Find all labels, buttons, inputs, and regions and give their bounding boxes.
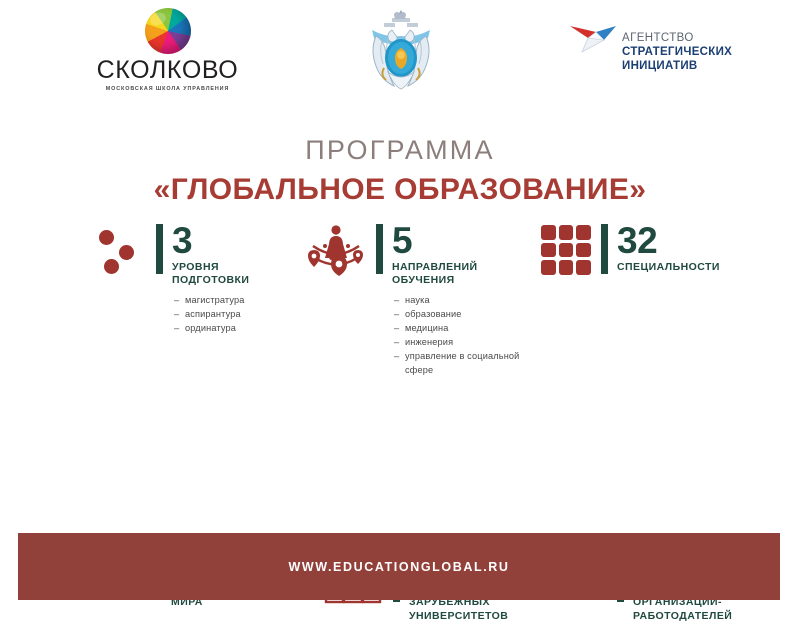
stat-text: 32 СПЕЦИАЛЬНОСТИ <box>617 224 740 274</box>
asi-wordmark: АГЕНТСТВО СТРАТЕГИЧЕСКИХ ИНИЦИАТИВ <box>622 31 732 73</box>
program-label: ПРОГРАММА <box>0 136 800 164</box>
stat-caption-line: УРОВНЯ <box>172 261 300 274</box>
footer-url[interactable]: WWW.EDUCATIONGLOBAL.RU <box>18 560 780 574</box>
title-block: ПРОГРАММА «ГЛОБАЛЬНОЕ ОБРАЗОВАНИЕ» <box>0 136 800 206</box>
people-location-icon-svg <box>305 224 367 276</box>
stat-text: 5 НАПРАВЛЕНИЙ ОБУЧЕНИЯ наука образование… <box>392 224 545 394</box>
stat-caption: НАПРАВЛЕНИЙ ОБУЧЕНИЯ <box>392 261 545 288</box>
asi-line-3: ИНИЦИАТИВ <box>622 59 732 73</box>
list-item: ординатура <box>174 322 300 336</box>
stat-text: 3 УРОВНЯ ПОДГОТОВКИ магистратура аспиран… <box>172 224 300 352</box>
double-headed-eagle-icon <box>362 6 440 92</box>
slide-root: СКОЛКОВО Московская школа управления <box>0 0 800 600</box>
grid-squares-icon <box>540 224 592 276</box>
asi-arrow-icon <box>566 20 618 56</box>
asi-line-2: СТРАТЕГИЧЕСКИХ <box>622 45 732 59</box>
stats-row-1: 3 УРОВНЯ ПОДГОТОВКИ магистратура аспиран… <box>0 222 800 382</box>
three-dots-icon <box>95 224 147 276</box>
list-item: наука <box>394 294 545 308</box>
stat-caption: УРОВНЯ ПОДГОТОВКИ <box>172 261 300 288</box>
skolkovo-tagline: Московская школа управления <box>95 86 240 92</box>
stat-caption: СПЕЦИАЛЬНОСТИ <box>617 261 740 274</box>
page-title: «ГЛОБАЛЬНОЕ ОБРАЗОВАНИЕ» <box>0 174 800 206</box>
list-item: аспирантура <box>174 308 300 322</box>
stat-number: 3 <box>172 224 300 258</box>
list-item: медицина <box>394 322 545 336</box>
stat-card-specialties: 32 СПЕЦИАЛЬНОСТИ <box>540 224 740 276</box>
stat-caption-line: ОБУЧЕНИЯ <box>392 274 545 287</box>
logo-skolkovo: СКОЛКОВО Московская школа управления <box>95 8 240 92</box>
logo-state-emblem <box>362 6 440 92</box>
list-item: управление в социальной сфере <box>394 350 533 378</box>
footer-bar: WWW.EDUCATIONGLOBAL.RU <box>18 533 780 600</box>
stat-bullet-list: наука образование медицина инженерия упр… <box>394 294 545 378</box>
list-item: образование <box>394 308 545 322</box>
people-location-icon <box>305 224 367 276</box>
stat-caption-line: НАПРАВЛЕНИЙ <box>392 261 545 274</box>
stats-row-2: 27 СТРАН МИРА <box>0 382 800 502</box>
stat-card-levels: 3 УРОВНЯ ПОДГОТОВКИ магистратура аспиран… <box>95 224 300 352</box>
stat-bullet-list: магистратура аспирантура ординатура <box>174 294 300 336</box>
accent-bar <box>601 224 608 274</box>
logo-row: СКОЛКОВО Московская школа управления <box>0 0 800 110</box>
asi-line-1: АГЕНТСТВО <box>622 31 732 45</box>
stat-card-directions: 5 НАПРАВЛЕНИЙ ОБУЧЕНИЯ наука образование… <box>305 224 545 394</box>
stat-caption-line: СПЕЦИАЛЬНОСТИ <box>617 261 740 274</box>
stat-number: 32 <box>617 224 740 258</box>
stat-caption-line: ПОДГОТОВКИ <box>172 274 300 287</box>
list-item: магистратура <box>174 294 300 308</box>
stats-grid: 3 УРОВНЯ ПОДГОТОВКИ магистратура аспиран… <box>0 222 800 502</box>
stat-caption-line: РАБОТОДАТЕЛЕЙ <box>633 610 755 623</box>
accent-bar <box>376 224 383 274</box>
skolkovo-wordmark: СКОЛКОВО <box>95 58 240 83</box>
stat-caption-line: УНИВЕРСИТЕТОВ <box>409 610 532 623</box>
accent-bar <box>156 224 163 274</box>
skolkovo-sphere-icon <box>145 8 191 54</box>
list-item: инженерия <box>394 336 545 350</box>
stat-number: 5 <box>392 224 545 258</box>
